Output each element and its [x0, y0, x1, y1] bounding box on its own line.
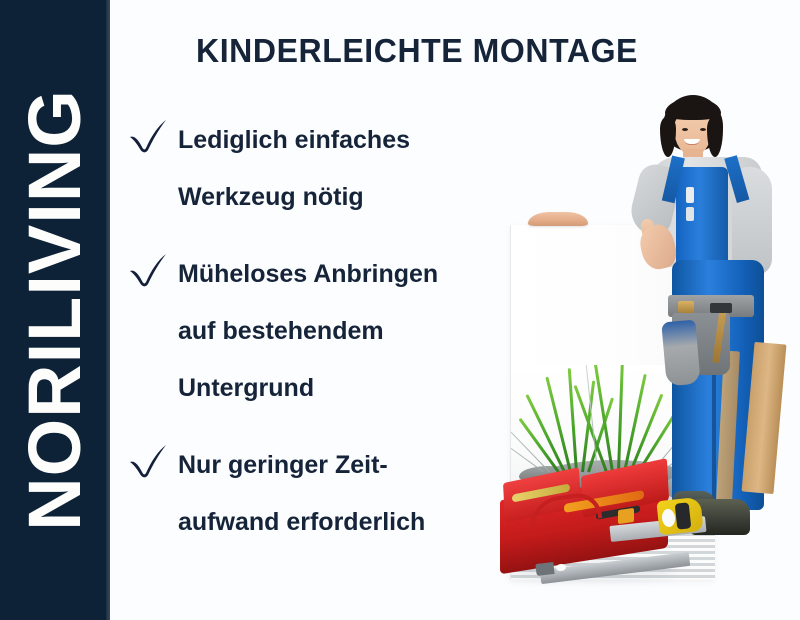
grass-blade	[568, 368, 578, 472]
hand-on-panel	[528, 212, 588, 226]
eye-right	[700, 128, 706, 131]
metal-rail-tip	[535, 562, 554, 576]
checkmark-icon	[126, 116, 170, 156]
toolbox-clasp	[618, 508, 634, 524]
brand-name: NORILIVING	[18, 89, 92, 531]
checkmark-icon	[126, 441, 170, 481]
checkmark-icon	[126, 250, 170, 290]
list-item: Müheloses Anbringen auf bestehendem Unte…	[126, 246, 526, 417]
list-item: Lediglich einfaches Werkzeug nötig	[126, 112, 526, 226]
work-glove	[661, 320, 700, 387]
promo-banner: NORILIVING KINDERLEICHTE MONTAGE Ledigli…	[0, 0, 800, 620]
hammer-head	[710, 303, 732, 313]
feature-list: Lediglich einfaches Werkzeug nötig Mühel…	[126, 112, 526, 571]
bib-buckle-lower	[686, 207, 694, 221]
product-photo	[470, 0, 800, 620]
red-toolbox	[500, 465, 700, 590]
hair-side-right	[707, 117, 723, 157]
eye-left	[682, 128, 688, 131]
grass-blade	[594, 365, 614, 472]
bib-buckle-upper	[686, 187, 694, 203]
brand-sidebar-edge	[106, 0, 110, 620]
list-item: Nur geringer Zeit- aufwand erforderlich	[126, 437, 526, 551]
belt-tool	[678, 301, 694, 313]
brand-sidebar: NORILIVING	[0, 0, 110, 620]
hair-side-left	[660, 117, 676, 157]
saw-grip	[675, 502, 692, 529]
overall-bib	[676, 167, 728, 265]
